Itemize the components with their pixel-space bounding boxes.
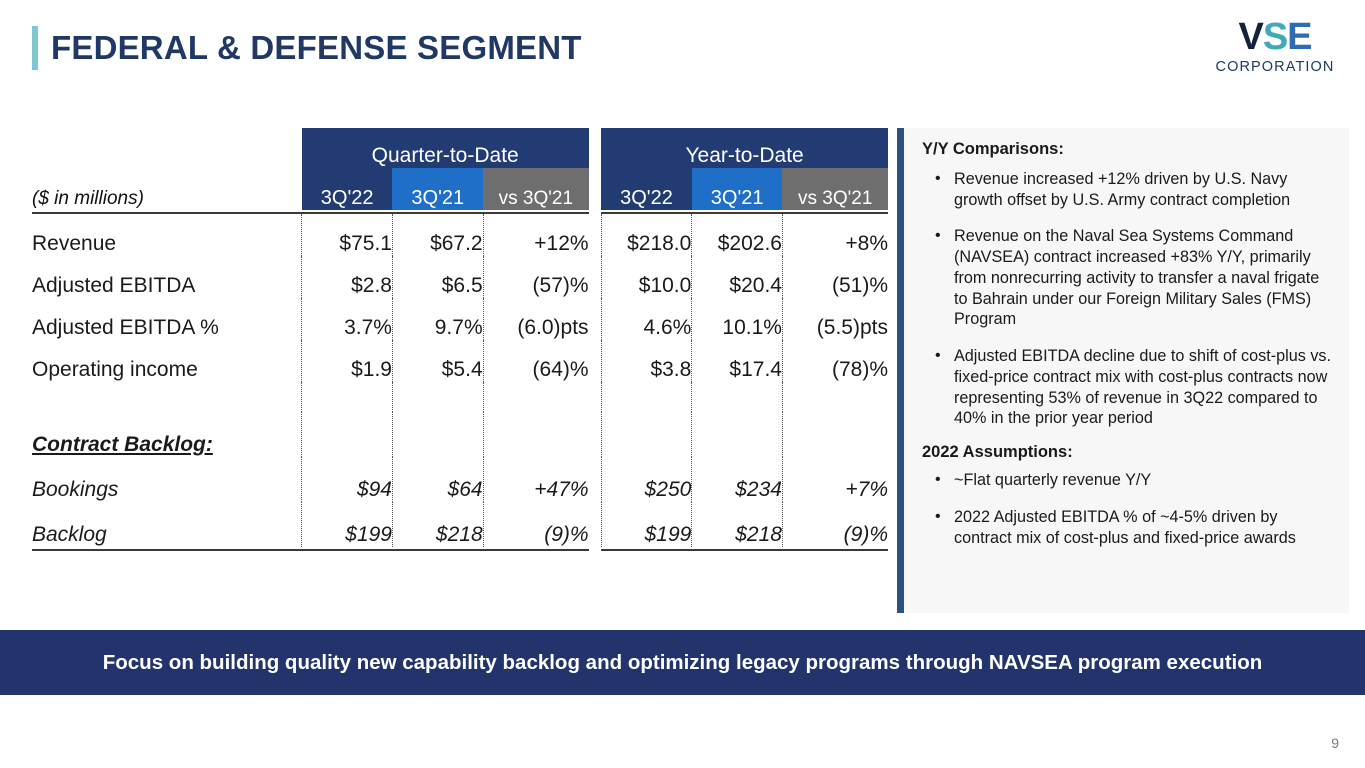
page-title: FEDERAL & DEFENSE SEGMENT xyxy=(51,29,582,67)
assumptions-heading: 2022 Assumptions: xyxy=(922,443,1333,462)
cell-qtd-prior: $64 xyxy=(392,457,483,502)
logo-subtitle: CORPORATION xyxy=(1213,60,1337,75)
table-row: Backlog $199 $218 (9)% $199 $218 (9)% xyxy=(32,502,888,547)
cell-ytd-current: $218.0 xyxy=(601,213,692,256)
cell-ytd-prior: $234 xyxy=(692,457,783,502)
cell-ytd-variance: (5.5)pts xyxy=(782,298,888,340)
cell-ytd-current: 4.6% xyxy=(601,298,692,340)
bottom-rule-e xyxy=(692,547,783,550)
header-ytd-current: 3Q'22 xyxy=(601,168,692,210)
bottom-rule-label xyxy=(32,547,302,550)
cell-ytd-variance: (9)% xyxy=(782,502,888,547)
row-label: Adjusted EBITDA % xyxy=(32,298,302,340)
financial-table: Quarter-to-Date Year-to-Date ($ in milli… xyxy=(32,128,888,551)
row-gap xyxy=(589,256,602,298)
bullet-icon: • xyxy=(935,507,941,527)
list-item-text: 2022 Adjusted EBITDA % of ~4-5% driven b… xyxy=(954,508,1296,547)
bottom-rule-d xyxy=(601,547,692,550)
spacer-c xyxy=(483,382,588,412)
list-item-text: ~Flat quarterly revenue Y/Y xyxy=(954,471,1151,489)
table-group-header-row: Quarter-to-Date Year-to-Date xyxy=(32,128,888,168)
bottom-rule-gap xyxy=(589,547,602,550)
bottom-rule-f xyxy=(782,547,888,550)
cell-ytd-variance: (78)% xyxy=(782,340,888,382)
row-label: Revenue xyxy=(32,213,302,256)
cell-qtd-prior: $67.2 xyxy=(392,213,483,256)
bullet-icon: • xyxy=(935,470,941,490)
row-label: Backlog xyxy=(32,502,302,547)
backlog-head-gap xyxy=(589,412,602,457)
commentary-panel-inner: Y/Y Comparisons: • Revenue increased +12… xyxy=(904,128,1349,558)
backlog-head-c xyxy=(483,412,588,457)
assumptions-list: • ~Flat quarterly revenue Y/Y • 2022 Adj… xyxy=(922,470,1333,548)
cell-qtd-prior: $5.4 xyxy=(392,340,483,382)
table-bottom-rule-row xyxy=(32,547,888,550)
bottom-rule-b xyxy=(392,547,483,550)
table-row: Adjusted EBITDA $2.8 $6.5 (57)% $10.0 $2… xyxy=(32,256,888,298)
row-label: Adjusted EBITDA xyxy=(32,256,302,298)
row-label: Bookings xyxy=(32,457,302,502)
list-item: • Revenue on the Naval Sea Systems Comma… xyxy=(922,226,1333,330)
header-qtd-current: 3Q'22 xyxy=(302,168,393,210)
backlog-section-header-row: Contract Backlog: xyxy=(32,412,888,457)
commentary-panel: Y/Y Comparisons: • Revenue increased +12… xyxy=(897,128,1349,613)
cell-ytd-current: $3.8 xyxy=(601,340,692,382)
cell-ytd-prior: $202.6 xyxy=(692,213,783,256)
spacer-f xyxy=(782,382,888,412)
table-row: Bookings $94 $64 +47% $250 $234 +7% xyxy=(32,457,888,502)
spacer-e xyxy=(692,382,783,412)
vse-corporation-logo: VSE CORPORATION xyxy=(1213,18,1337,75)
backlog-section-label: Contract Backlog: xyxy=(32,433,213,456)
backlog-section-title: Contract Backlog: xyxy=(32,412,302,457)
cell-qtd-variance: +12% xyxy=(483,213,588,256)
cell-qtd-variance: (9)% xyxy=(483,502,588,547)
cell-qtd-current: $94 xyxy=(302,457,393,502)
header-ytd-prior: 3Q'21 xyxy=(692,168,783,210)
list-item: • Revenue increased +12% driven by U.S. … xyxy=(922,169,1333,210)
table-spacer-row xyxy=(32,382,888,412)
list-item: • Adjusted EBITDA decline due to shift o… xyxy=(922,346,1333,429)
list-item-text: Adjusted EBITDA decline due to shift of … xyxy=(954,347,1331,427)
cell-qtd-variance: (64)% xyxy=(483,340,588,382)
cell-qtd-prior: $218 xyxy=(392,502,483,547)
list-item: • ~Flat quarterly revenue Y/Y xyxy=(922,470,1333,491)
financial-table-container: Quarter-to-Date Year-to-Date ($ in milli… xyxy=(32,128,888,551)
spacer-label xyxy=(32,382,302,412)
takeaway-banner: Focus on building quality new capability… xyxy=(0,630,1365,695)
cell-ytd-prior: $20.4 xyxy=(692,256,783,298)
header-group-gap-2 xyxy=(589,168,602,210)
takeaway-banner-text: Focus on building quality new capability… xyxy=(103,651,1263,675)
slide-title-group: FEDERAL & DEFENSE SEGMENT xyxy=(32,22,582,74)
table-column-header-row: ($ in millions) 3Q'22 3Q'21 vs 3Q'21 3Q'… xyxy=(32,168,888,210)
cell-ytd-prior: 10.1% xyxy=(692,298,783,340)
spacer-d xyxy=(601,382,692,412)
cell-ytd-current: $10.0 xyxy=(601,256,692,298)
cell-qtd-current: $2.8 xyxy=(302,256,393,298)
spacer-a xyxy=(302,382,393,412)
row-label: Operating income xyxy=(32,340,302,382)
list-item: • 2022 Adjusted EBITDA % of ~4-5% driven… xyxy=(922,507,1333,548)
cell-qtd-current: 3.7% xyxy=(302,298,393,340)
cell-qtd-variance: (6.0)pts xyxy=(483,298,588,340)
bullet-icon: • xyxy=(935,169,941,189)
table-row: Revenue $75.1 $67.2 +12% $218.0 $202.6 +… xyxy=(32,213,888,256)
cell-qtd-variance: (57)% xyxy=(483,256,588,298)
row-gap xyxy=(589,340,602,382)
bullet-icon: • xyxy=(935,226,941,246)
cell-qtd-current: $75.1 xyxy=(302,213,393,256)
cell-ytd-current: $199 xyxy=(601,502,692,547)
cell-qtd-prior: $6.5 xyxy=(392,256,483,298)
backlog-head-f xyxy=(782,412,888,457)
units-note: ($ in millions) xyxy=(32,168,302,210)
bottom-rule-a xyxy=(302,547,393,550)
table-row: Adjusted EBITDA % 3.7% 9.7% (6.0)pts 4.6… xyxy=(32,298,888,340)
list-item-text: Revenue on the Naval Sea Systems Command… xyxy=(954,227,1319,328)
table-row: Operating income $1.9 $5.4 (64)% $3.8 $1… xyxy=(32,340,888,382)
header-quarter-to-date: Quarter-to-Date xyxy=(302,128,589,168)
header-group-gap xyxy=(589,128,602,168)
row-gap xyxy=(589,457,602,502)
bottom-rule-c xyxy=(483,547,588,550)
cell-ytd-current: $250 xyxy=(601,457,692,502)
cell-qtd-current: $199 xyxy=(302,502,393,547)
header-qtd-prior: 3Q'21 xyxy=(392,168,483,210)
backlog-head-e xyxy=(692,412,783,457)
row-gap xyxy=(589,502,602,547)
yy-comparisons-heading: Y/Y Comparisons: xyxy=(922,140,1333,159)
yy-comparisons-list: • Revenue increased +12% driven by U.S. … xyxy=(922,169,1333,429)
header-year-to-date: Year-to-Date xyxy=(601,128,888,168)
cell-qtd-current: $1.9 xyxy=(302,340,393,382)
cell-qtd-prior: 9.7% xyxy=(392,298,483,340)
title-accent-bar xyxy=(32,26,38,70)
logo-letter-e: E xyxy=(1287,16,1311,58)
backlog-head-b xyxy=(392,412,483,457)
cell-qtd-variance: +47% xyxy=(483,457,588,502)
cell-ytd-prior: $17.4 xyxy=(692,340,783,382)
row-gap xyxy=(589,298,602,340)
logo-letter-s: S xyxy=(1263,16,1287,58)
header-ytd-variance: vs 3Q'21 xyxy=(782,168,888,210)
backlog-head-d xyxy=(601,412,692,457)
logo-wordmark: VSE xyxy=(1213,18,1337,58)
cell-ytd-variance: +7% xyxy=(782,457,888,502)
cell-ytd-variance: +8% xyxy=(782,213,888,256)
backlog-head-a xyxy=(302,412,393,457)
cell-ytd-variance: (51)% xyxy=(782,256,888,298)
spacer-gap xyxy=(589,382,602,412)
spacer-b xyxy=(392,382,483,412)
bullet-icon: • xyxy=(935,346,941,366)
header-qtd-variance: vs 3Q'21 xyxy=(483,168,588,210)
cell-ytd-prior: $218 xyxy=(692,502,783,547)
page-number: 9 xyxy=(1331,735,1339,751)
list-item-text: Revenue increased +12% driven by U.S. Na… xyxy=(954,170,1290,209)
header-spacer xyxy=(32,128,302,168)
row-gap xyxy=(589,213,602,256)
logo-letter-v: V xyxy=(1238,16,1262,58)
